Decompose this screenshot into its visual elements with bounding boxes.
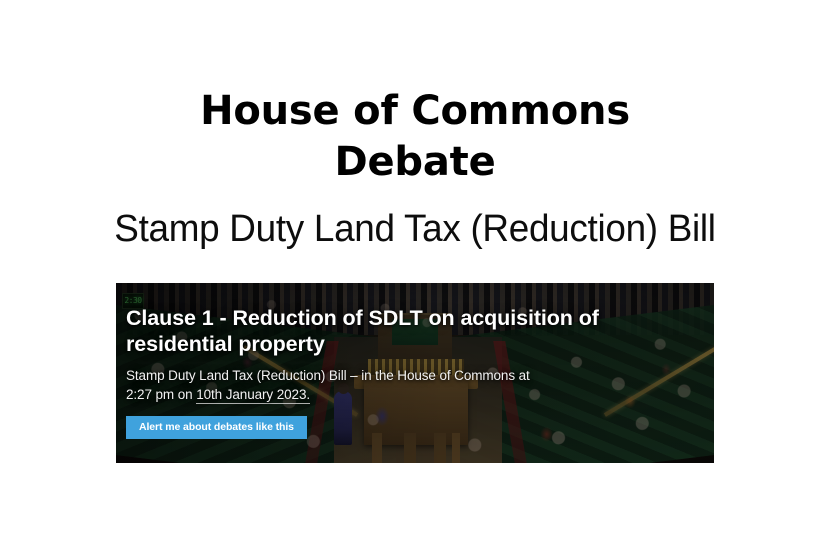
debate-heading: Clause 1 - Reduction of SDLT on acquisit… <box>126 305 710 357</box>
debate-photo-card[interactable]: 2:30 Clause 1 - Reduction of SDLT on acq… <box>116 283 714 463</box>
page-subtitle: Stamp Duty Land Tax (Reduction) Bill <box>12 206 817 252</box>
debate-date: 10th January 2023. <box>196 387 310 404</box>
debate-meta-line-2-prefix: on <box>178 387 196 402</box>
page-title: House of Commons Debate <box>0 86 830 188</box>
alert-me-button[interactable]: Alert me about debates like this <box>126 416 307 439</box>
page-title-line-1: House of Commons <box>200 88 630 134</box>
photo-overlay-content: Clause 1 - Reduction of SDLT on acquisit… <box>116 283 714 463</box>
debate-meta: Stamp Duty Land Tax (Reduction) Bill – i… <box>126 366 546 404</box>
page-title-line-2: Debate <box>0 137 830 188</box>
